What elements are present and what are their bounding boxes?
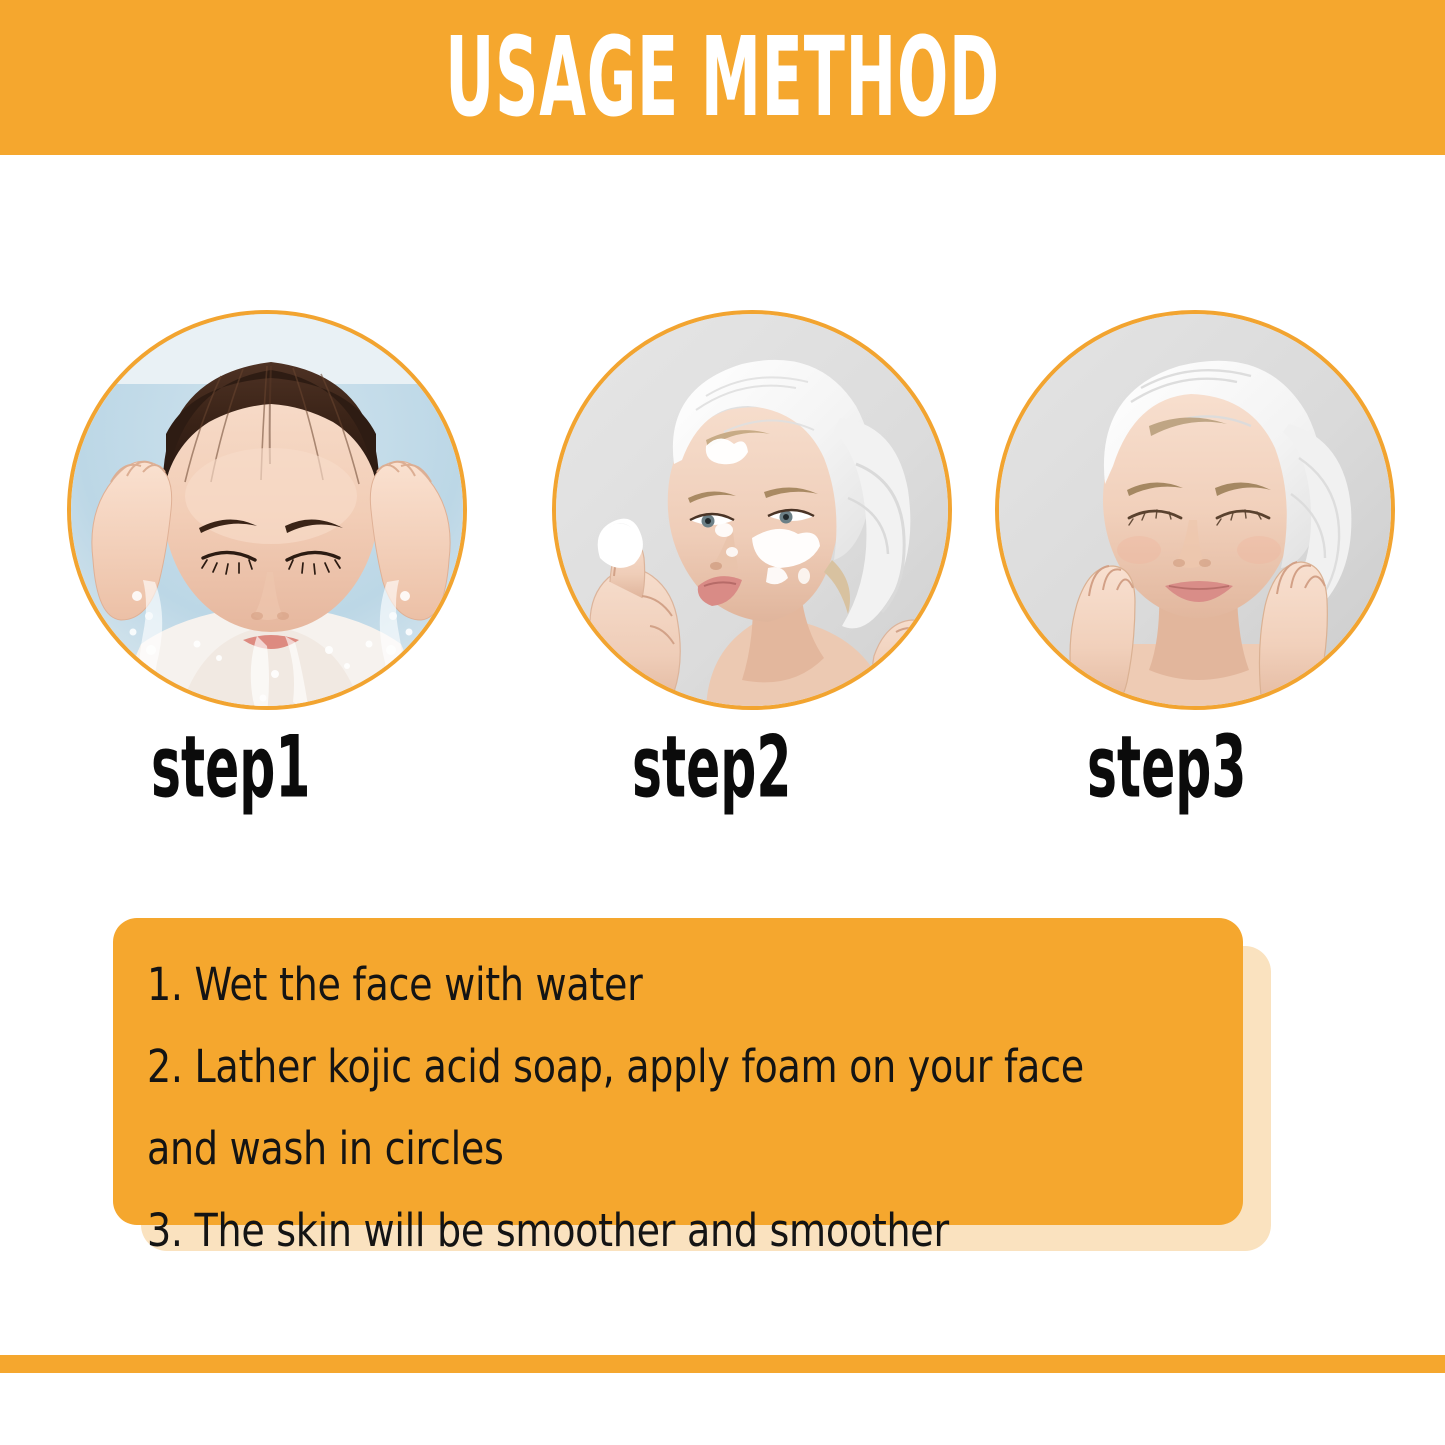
step-1-illustration: [71, 314, 463, 706]
instruction-card: 1. Wet the face with water 2. Lather koj…: [113, 918, 1243, 1225]
page-title: USAGE METHOD: [445, 22, 1000, 132]
instruction-line-3: and wash in circles: [147, 1108, 1145, 1190]
step-3-photo-circle: [995, 310, 1395, 710]
step-item-1: step1: [67, 310, 472, 810]
footer-bar: [0, 1355, 1445, 1373]
woman-splashing-water-on-face-image: [71, 314, 463, 706]
step-item-3: step3: [995, 310, 1400, 810]
step-2-label: step2: [552, 724, 876, 809]
steps-row: step1: [0, 310, 1445, 810]
step-2-photo-circle: [552, 310, 952, 710]
step-1-photo-circle: [67, 310, 467, 710]
step-1-label: step1: [67, 724, 391, 809]
step-item-2: step2: [552, 310, 957, 810]
header-band: USAGE METHOD: [0, 0, 1445, 155]
step-3-illustration: [999, 314, 1391, 706]
instruction-line-2: 2. Lather kojic acid soap, apply foam on…: [147, 1026, 1145, 1108]
instruction-line-1: 1. Wet the face with water: [147, 944, 1145, 1026]
instruction-line-4: 3. The skin will be smoother and smoothe…: [147, 1190, 1145, 1272]
step-2-illustration: [556, 314, 948, 706]
woman-massaging-clean-face-image: [999, 314, 1391, 706]
step-3-label: step3: [995, 724, 1319, 809]
woman-applying-foam-to-face-image: [556, 314, 948, 706]
